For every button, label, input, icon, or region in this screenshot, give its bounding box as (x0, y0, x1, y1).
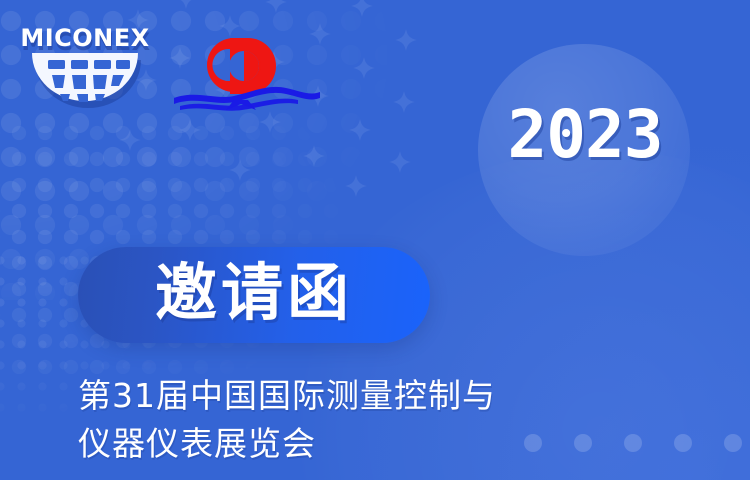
invitation-poster: MICONEX MICONEX (0, 0, 750, 480)
invitation-label: 邀请函 (155, 262, 353, 328)
decor-dot-3 (624, 434, 642, 452)
svg-text:MICONEX: MICONEX (22, 24, 150, 52)
invitation-pill[interactable]: 邀请函 (78, 247, 430, 343)
decor-dot-2 (574, 434, 592, 452)
miconex-logo: MICONEX MICONEX (22, 22, 150, 110)
year-2023-label: 2023 (495, 102, 675, 168)
decor-dot-1 (524, 434, 542, 452)
headline-line-1: 第31届中国国际测量控制与 (78, 372, 698, 420)
decor-dot-5 (724, 434, 742, 452)
red-cd-wave-logo-icon (172, 26, 322, 116)
exhibition-headline: 第31届中国国际测量控制与 仪器仪表展览会 (78, 372, 698, 468)
decor-dot-4 (674, 434, 692, 452)
decorative-dot-row (524, 434, 742, 452)
